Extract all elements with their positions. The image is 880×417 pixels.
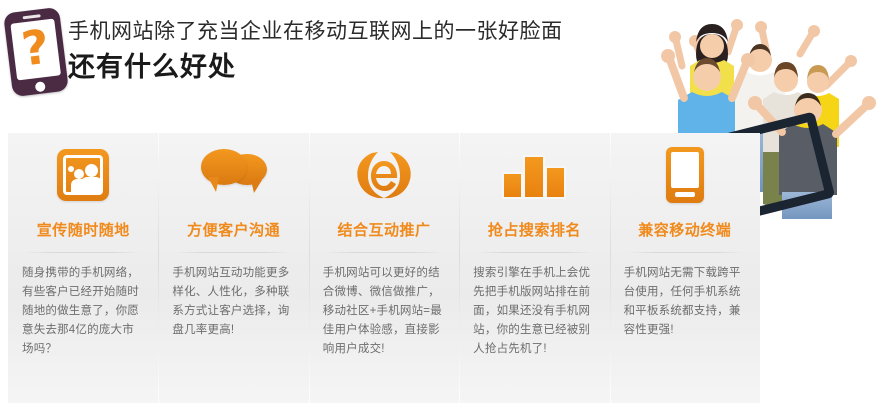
page-title: 还有什么好处 bbox=[68, 49, 563, 85]
card-icon-slot bbox=[624, 145, 746, 213]
person-body-mid bbox=[71, 179, 87, 192]
mobile-home-bar bbox=[675, 192, 695, 197]
card-body: 手机网站可以更好的结合微博、微信做推广，移动社区+手机网站=最佳用户体验感，直接… bbox=[323, 264, 445, 359]
benefit-card-3[interactable]: 结合互动推广 手机网站可以更好的结合微博、微信做推广，移动社区+手机网站=最佳用… bbox=[309, 133, 459, 403]
person-head-large bbox=[85, 164, 98, 177]
speech-bubble-back-tail bbox=[251, 180, 262, 193]
question-mark-glyph: ? bbox=[10, 19, 61, 81]
benefit-card-1[interactable]: 宣传随时随地 随身携带的手机网络，有些客户已经开始随时随地的做生意了，你愿意失去… bbox=[8, 133, 158, 403]
bar-left bbox=[502, 172, 523, 199]
card-title: 宣传随时随地 bbox=[22, 219, 144, 240]
card-divider bbox=[175, 252, 293, 253]
card-icon-slot bbox=[172, 145, 294, 213]
infographic-root: ? 手机网站除了充当企业在移动互联网上的一张好脸面 还有什么好处 bbox=[0, 0, 880, 417]
card-title: 方便客户沟通 bbox=[172, 219, 294, 240]
speech-bubbles-icon bbox=[201, 149, 267, 201]
card-title: 兼容移动终端 bbox=[624, 219, 746, 240]
people-frame-border bbox=[63, 155, 103, 195]
card-divider bbox=[626, 252, 744, 253]
bar-right bbox=[545, 166, 566, 199]
card-icon-slot bbox=[22, 145, 144, 213]
card-divider bbox=[325, 252, 443, 253]
card-body: 搜索引擎在手机上会优先把手机版网站排在前面，如果还没有手机网站，你的生意已经被别… bbox=[473, 264, 595, 359]
benefit-card-5[interactable]: 兼容移动终端 手机网站无需下载跨平台使用，任何手机系统和平板系统都支持，兼容性更… bbox=[610, 133, 760, 403]
card-icon-slot bbox=[473, 145, 595, 213]
phone-question-icon: ? bbox=[3, 7, 69, 97]
benefit-card-4[interactable]: 抢占搜索排名 搜索引擎在手机上会优先把手机版网站排在前面，如果还没有手机网站，你… bbox=[459, 133, 609, 403]
card-divider bbox=[475, 252, 593, 253]
bar-middle bbox=[523, 155, 545, 199]
page-subtitle: 手机网站除了充当企业在移动互联网上的一张好脸面 bbox=[68, 18, 563, 46]
card-divider bbox=[24, 252, 142, 253]
card-title: 抢占搜索排名 bbox=[473, 219, 595, 240]
benefit-card-2[interactable]: 方便客户沟通 手机网站互动功能更多样化、人性化，多种联系方式让客户选择，询盘几率… bbox=[158, 133, 308, 403]
stylized-e-icon bbox=[352, 147, 416, 203]
card-body: 随身携带的手机网络，有些客户已经开始随时随地的做生意了，你愿意失去那4亿的庞大市… bbox=[22, 264, 144, 359]
people-frame-icon bbox=[57, 149, 109, 201]
mobile-device-icon bbox=[666, 147, 704, 203]
mobile-screen bbox=[671, 152, 699, 188]
header-text-block: 手机网站除了充当企业在移动互联网上的一张好脸面 还有什么好处 bbox=[68, 18, 563, 85]
card-body: 手机网站互动功能更多样化、人性化，多种联系方式让客户选择，询盘几率更高! bbox=[172, 264, 294, 340]
card-icon-slot bbox=[323, 145, 445, 213]
stylized-e-glyph bbox=[352, 147, 416, 203]
bar-chart-icon bbox=[502, 151, 566, 199]
benefits-panel: 宣传随时随地 随身携带的手机网络，有些客户已经开始随时随地的做生意了，你愿意失去… bbox=[8, 133, 760, 403]
person-head-small bbox=[68, 166, 74, 172]
card-title: 结合互动推广 bbox=[323, 219, 445, 240]
speech-bubble-front-tail bbox=[208, 177, 219, 192]
card-body: 手机网站无需下载跨平台使用，任何手机系统和平板系统都支持，兼容性更强! bbox=[624, 264, 746, 340]
